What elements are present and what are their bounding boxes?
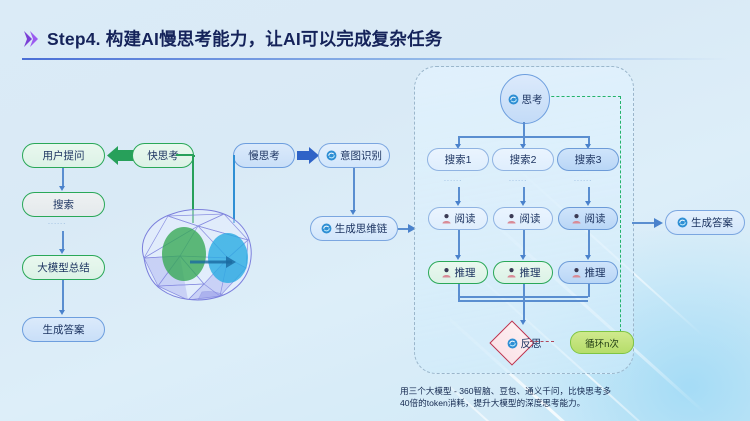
node-label: 大模型总结 <box>37 260 90 275</box>
loop-count-badge: 循环n次 <box>570 331 634 354</box>
connector <box>523 284 525 322</box>
node-llm-summary[interactable]: 大模型总结 <box>22 255 105 280</box>
arrow-head <box>455 201 461 206</box>
node-label: 搜索1 <box>445 152 472 167</box>
arrow-head <box>59 249 65 254</box>
brain-left-lobe <box>162 227 206 281</box>
arrow-head <box>59 186 65 191</box>
node-label: 阅读 <box>455 211 476 226</box>
node-label: 推理 <box>520 265 541 280</box>
connector-dashed <box>530 341 554 342</box>
node-read-3[interactable]: 阅读 <box>558 207 618 230</box>
connector <box>523 122 525 136</box>
dotted-separator: ...... <box>444 176 462 183</box>
cycle-icon <box>326 150 337 161</box>
connector <box>458 230 460 257</box>
arrow-head <box>585 255 591 260</box>
node-label: 推理 <box>585 265 606 280</box>
arrow-head <box>455 255 461 260</box>
loop-count-label: 循环n次 <box>585 336 619 350</box>
footnote-line-1: 用三个大模型 - 360智脑、豆包、通义千问，比快思考多 <box>400 385 658 397</box>
cycle-icon <box>508 94 519 105</box>
dotted-separator: ...... <box>574 176 592 183</box>
node-search-2[interactable]: 搜索2 <box>492 148 554 171</box>
connector <box>458 284 460 301</box>
connector <box>588 284 590 297</box>
node-generate-answer-left[interactable]: 生成答案 <box>22 317 105 342</box>
arrow-head <box>585 201 591 206</box>
node-read-2[interactable]: 阅读 <box>493 207 553 230</box>
node-label: 快思考 <box>147 148 179 163</box>
arrow-head <box>654 217 665 229</box>
node-label: 生成答案 <box>43 322 85 337</box>
node-label: 生成答案 <box>691 215 733 230</box>
title-divider <box>22 58 728 60</box>
node-search[interactable]: 搜索 <box>22 192 105 217</box>
dotted-separator: ...... <box>48 219 66 226</box>
node-generate-answer-right[interactable]: 生成答案 <box>665 210 745 235</box>
cycle-icon <box>507 338 518 349</box>
person-icon <box>571 267 582 278</box>
page-title: Step4. 构建AI慢思考能力，让AI可以完成复杂任务 <box>22 26 442 51</box>
green-left-arrow-icon <box>107 146 133 165</box>
connector <box>523 230 525 257</box>
feedback-loop-top <box>541 96 621 97</box>
node-label: 搜索2 <box>510 152 537 167</box>
node-reason-2[interactable]: 推理 <box>493 261 553 284</box>
node-label: 反思 <box>521 336 542 351</box>
cycle-icon <box>677 217 688 228</box>
node-slow-thinking[interactable]: 慢思考 <box>233 143 295 168</box>
arrow-head <box>520 320 526 325</box>
footnote-line-2: 40倍的token消耗，提升大模型的深度思考能力。 <box>400 397 658 409</box>
node-label: 慢思考 <box>248 148 280 163</box>
connector <box>62 168 64 188</box>
page-title-text: Step4. 构建AI慢思考能力，让AI可以完成复杂任务 <box>47 26 442 51</box>
node-label: 搜索 <box>53 197 74 212</box>
node-search-1[interactable]: 搜索1 <box>427 148 489 171</box>
connector <box>62 280 64 312</box>
node-reason-1[interactable]: 推理 <box>428 261 488 284</box>
person-icon <box>506 267 517 278</box>
footnote: 用三个大模型 - 360智脑、豆包、通义千问，比快思考多 40倍的token消耗… <box>400 385 658 410</box>
arrow-head <box>59 310 65 315</box>
connector <box>176 154 194 156</box>
node-generate-cot[interactable]: 生成思维链 <box>310 216 398 241</box>
arrow-head <box>520 201 526 206</box>
node-label: 阅读 <box>520 211 541 226</box>
connector <box>62 231 64 251</box>
node-user-question[interactable]: 用户提问 <box>22 143 105 168</box>
node-search-3[interactable]: 搜索3 <box>557 148 619 171</box>
node-label: 搜索3 <box>575 152 602 167</box>
wireframe-brain-icon <box>128 196 260 314</box>
dotted-separator: ...... <box>509 176 527 183</box>
node-intent-recognition[interactable]: 意图识别 <box>318 143 390 168</box>
connector <box>353 168 355 212</box>
connector <box>588 230 590 257</box>
feedback-loop-vertical <box>620 96 621 342</box>
node-label: 阅读 <box>585 211 606 226</box>
node-label: 思考 <box>522 92 543 107</box>
node-label: 用户提问 <box>43 148 85 163</box>
person-icon <box>571 213 582 224</box>
node-label: 意图识别 <box>340 148 382 163</box>
slide-canvas: Step4. 构建AI慢思考能力，让AI可以完成复杂任务 用户提问 搜索 ...… <box>0 0 750 421</box>
arrow-head <box>350 210 356 215</box>
person-icon <box>441 213 452 224</box>
person-icon <box>506 213 517 224</box>
node-label: 推理 <box>455 265 476 280</box>
node-label: 生成思维链 <box>335 221 388 236</box>
person-icon <box>441 267 452 278</box>
node-read-1[interactable]: 阅读 <box>428 207 488 230</box>
chevron-right-icon <box>22 30 38 48</box>
cycle-icon <box>321 223 332 234</box>
node-reason-3[interactable]: 推理 <box>558 261 618 284</box>
arrow-head <box>520 255 526 260</box>
node-think[interactable]: 思考 <box>500 74 550 124</box>
node-reflect-label: 反思 <box>486 335 562 351</box>
blue-right-arrow-icon <box>297 147 319 164</box>
